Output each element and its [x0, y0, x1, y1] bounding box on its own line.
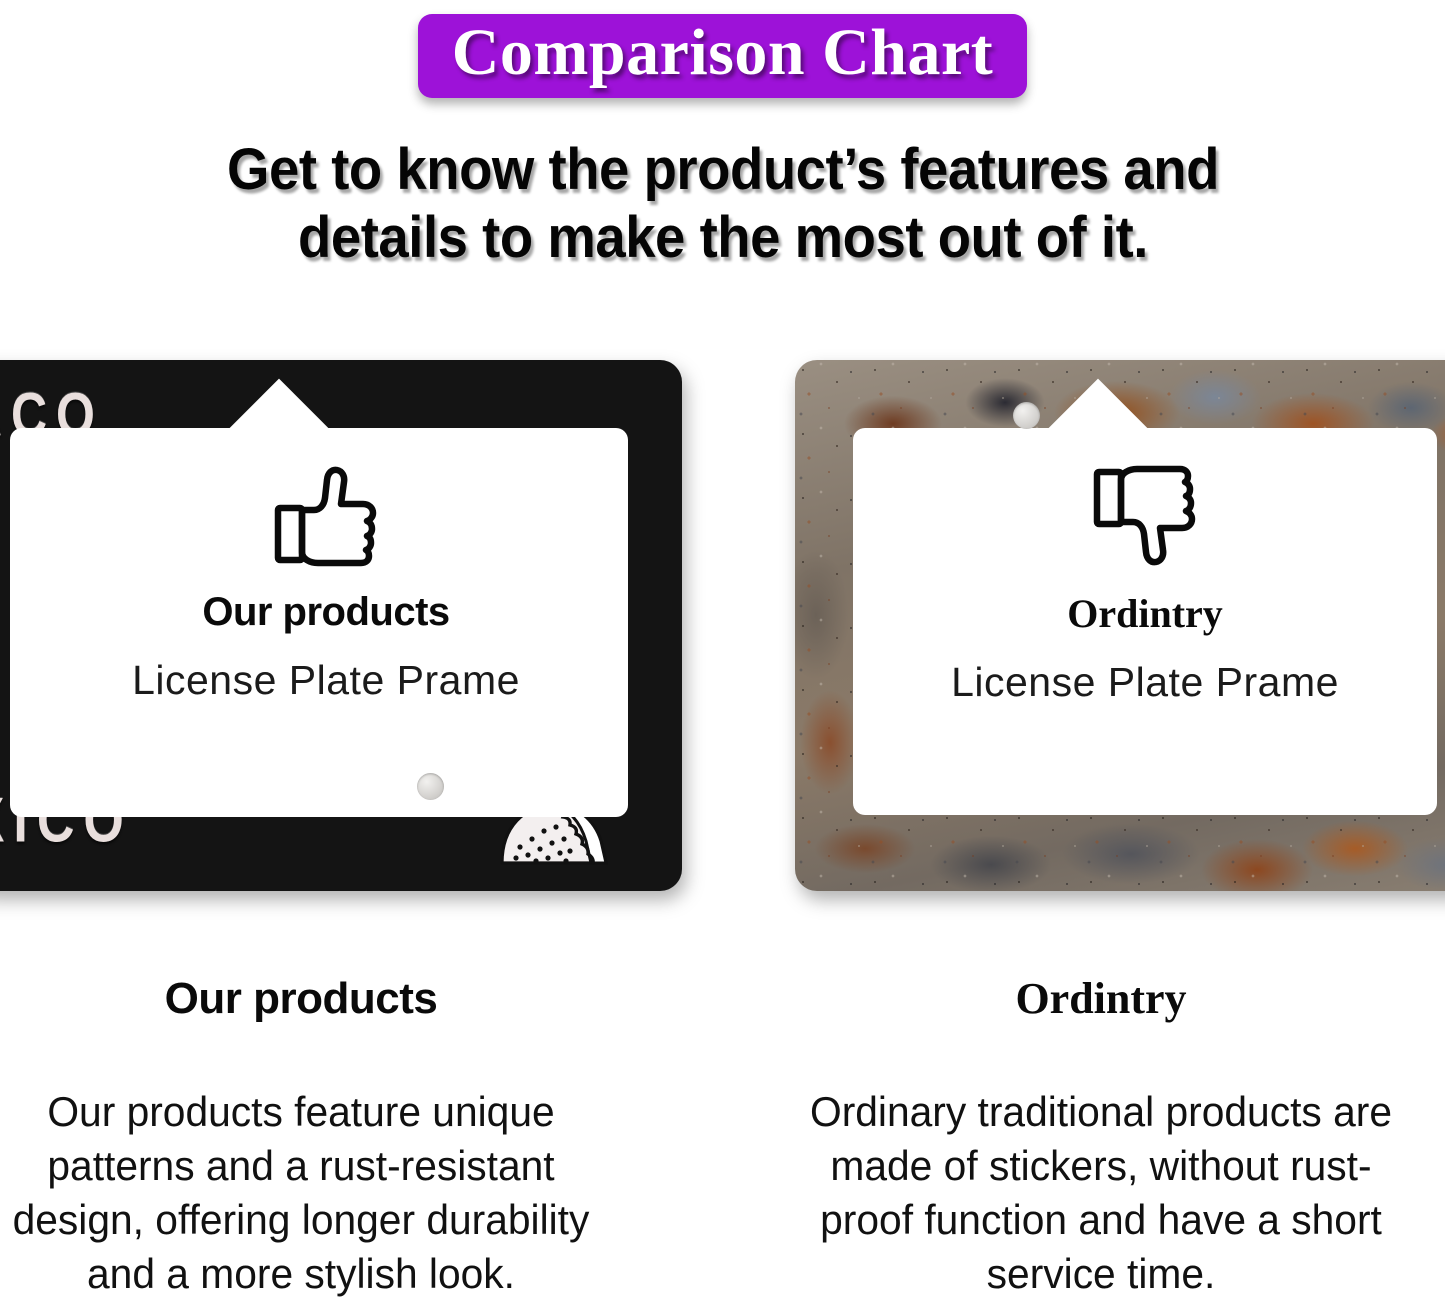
black-license-plate-frame: TACO EXICO	[0, 360, 682, 891]
title-banner: Comparison Chart	[418, 14, 1028, 98]
plate-window	[10, 428, 628, 817]
page-subtitle: Get to know the product’s features and d…	[159, 136, 1287, 273]
left-product-frame: TACO EXICO	[0, 344, 682, 919]
right-description-text: Ordinary traditional products are made o…	[791, 1085, 1412, 1300]
comparison-frames: TACO EXICO	[0, 344, 1445, 924]
subtitle-line-1: Get to know the product’s features and	[159, 136, 1287, 204]
right-product-frame: Ordintry License Plate Prame	[795, 344, 1445, 919]
page-header: Comparison Chart Get to know the product…	[0, 0, 1445, 273]
left-description-column: Our products Our products feature unique…	[0, 975, 662, 1300]
page-title: Comparison Chart	[452, 20, 994, 86]
plate-window	[853, 428, 1437, 815]
left-caption: Our products	[0, 975, 662, 1023]
left-description-text: Our products feature unique patterns and…	[0, 1085, 611, 1300]
right-description-column: Ordintry Ordinary traditional products a…	[740, 975, 1445, 1300]
screw-hole-icon	[1013, 402, 1040, 429]
right-caption: Ordintry	[740, 975, 1445, 1023]
screw-hole-icon	[417, 773, 444, 800]
rusted-license-plate-frame: Ordintry License Plate Prame	[795, 360, 1445, 891]
subtitle-line-2: details to make the most out of it.	[159, 204, 1287, 272]
comparison-descriptions: Our products Our products feature unique…	[0, 975, 1445, 1314]
